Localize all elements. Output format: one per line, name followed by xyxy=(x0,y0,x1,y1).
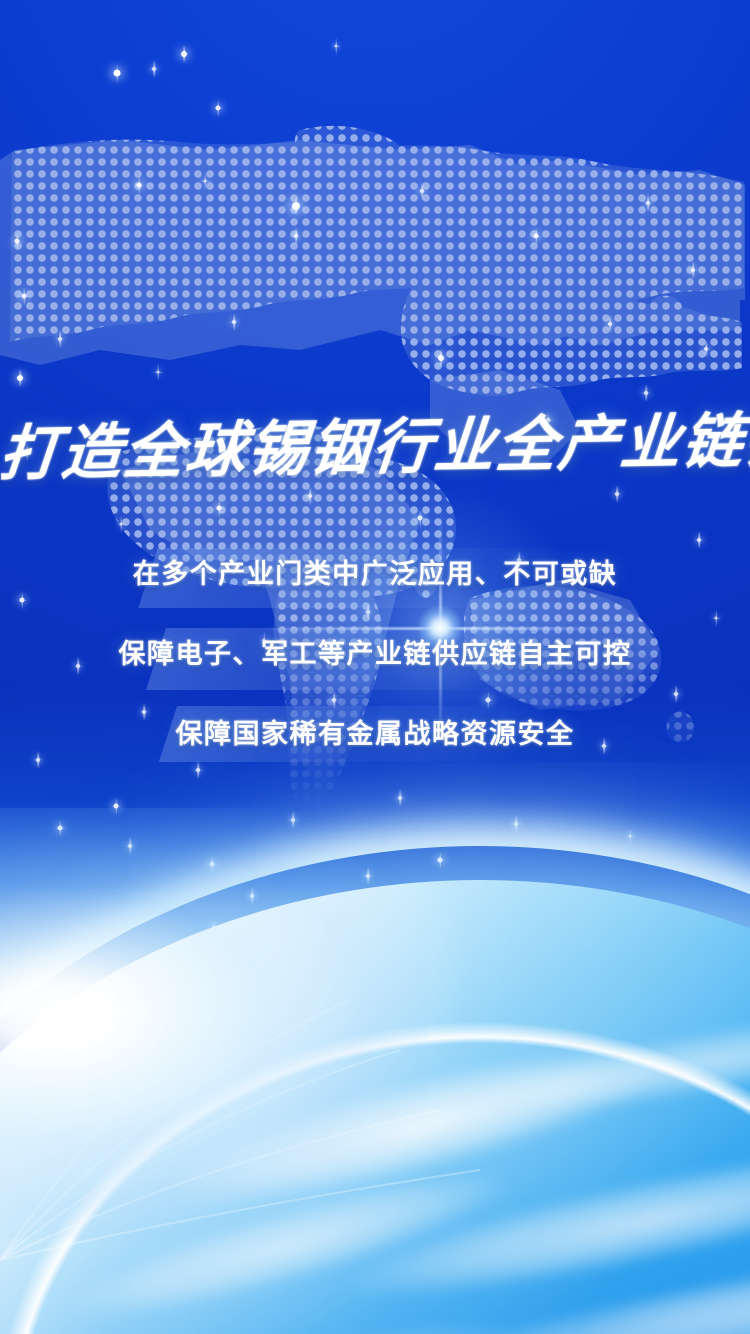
page-title: 打造全球锡铟行业全产业链链主 xyxy=(0,411,750,484)
subtitle-line-1: 在多个产业门类中广泛应用、不可或缺 xyxy=(0,561,750,588)
subtitle-line-2: 保障电子、军工等产业链供应链自主可控 xyxy=(0,641,750,668)
poster-canvas: 打造全球锡铟行业全产业链链主 在多个产业门类中广泛应用、不可或缺 保障电子、军工… xyxy=(0,0,750,1334)
subtitle-line-3: 保障国家稀有金属战略资源安全 xyxy=(0,721,750,748)
